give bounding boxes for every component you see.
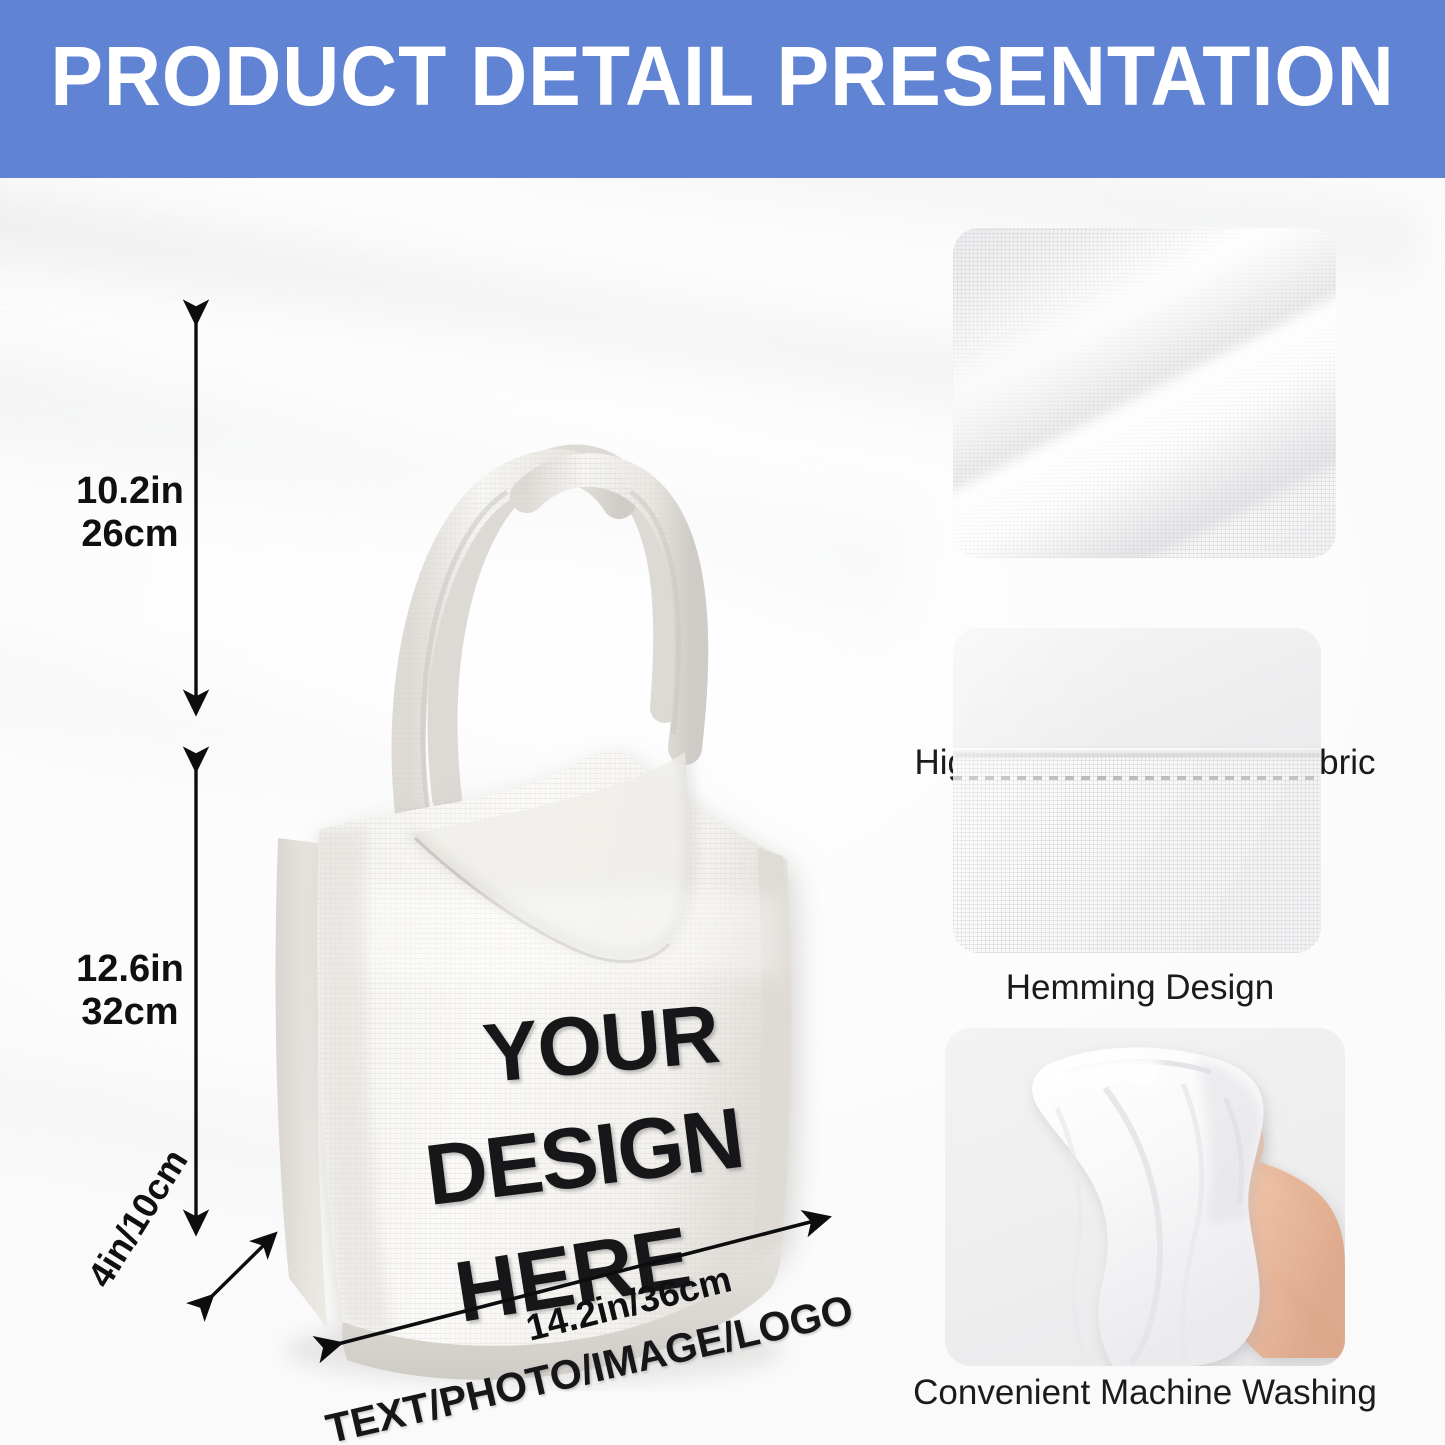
page-title: PRODUCT DETAIL PRESENTATION bbox=[43, 34, 1401, 118]
body-height-inches: 12.6in bbox=[35, 948, 225, 991]
handle-height-cm: 26cm bbox=[35, 513, 225, 556]
body-height-cm: 32cm bbox=[35, 991, 225, 1034]
feature-panel-fabric bbox=[953, 228, 1336, 558]
product-detail-presentation: PRODUCT DETAIL PRESENTATION bbox=[0, 0, 1445, 1445]
hand-holding-fabric-illustration bbox=[945, 1028, 1345, 1366]
product-photo-stage: YOUR DESIGN HERE TEXT/PHOTO/IMAGE/LOGO 1… bbox=[0, 178, 1445, 1445]
feature-caption-hemming: Hemming Design bbox=[940, 968, 1340, 1008]
feature-panel-hemming bbox=[953, 628, 1321, 953]
header-banner: PRODUCT DETAIL PRESENTATION bbox=[0, 0, 1445, 178]
feature-panel-washing bbox=[945, 1028, 1345, 1366]
fabric-shading-overlay bbox=[953, 228, 1336, 558]
dimension-label-handle-height: 10.2in 26cm bbox=[35, 470, 225, 555]
arrow-depth bbox=[205, 1241, 268, 1303]
hem-shading-overlay bbox=[953, 628, 1321, 953]
handle-height-inches: 10.2in bbox=[35, 470, 225, 513]
feature-caption-washing: Convenient Machine Washing bbox=[900, 1373, 1390, 1413]
dimension-label-body-height: 12.6in 32cm bbox=[35, 948, 225, 1033]
